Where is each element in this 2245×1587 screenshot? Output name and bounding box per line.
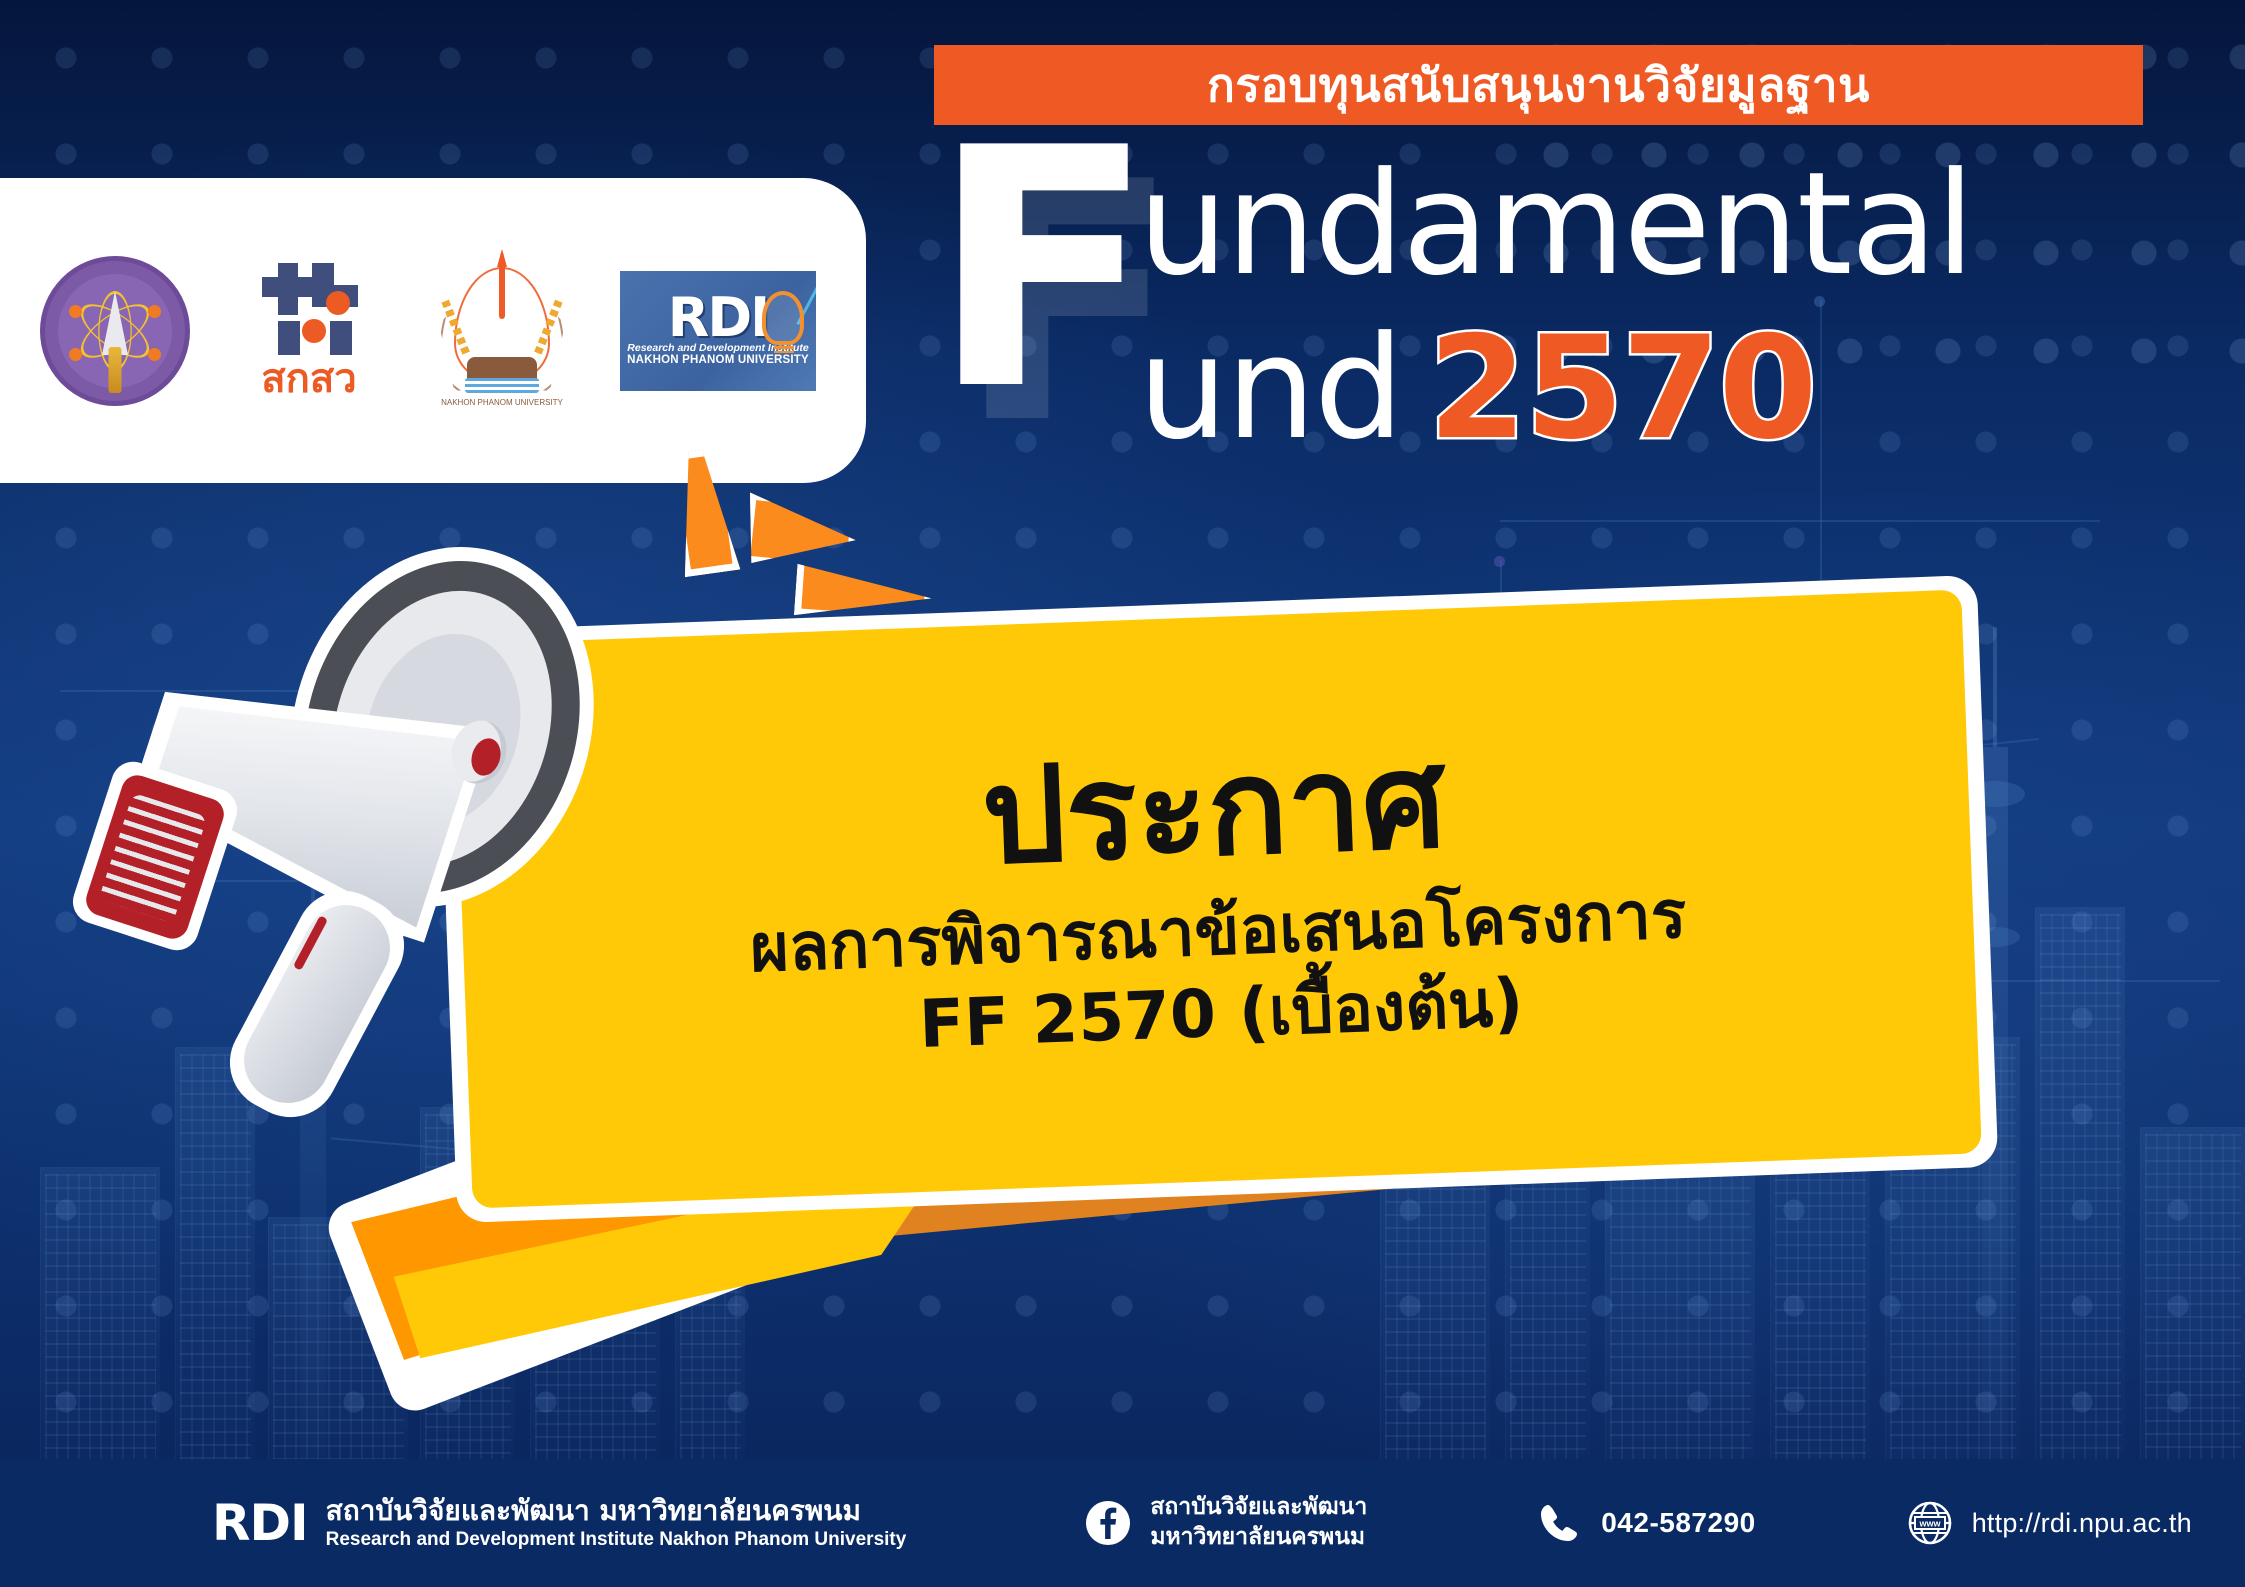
title-line2-row: und 2570: [1138, 318, 1815, 460]
tsri-wordmark: สกสว: [261, 359, 357, 399]
ministry-logo: [40, 256, 190, 406]
poster-title: F F undamental und 2570: [930, 150, 2220, 480]
sksw-logo-icon: [254, 263, 364, 355]
rdi-line2: NAKHON PHANOM UNIVERSITY: [627, 354, 809, 367]
footer-website-url: http://rdi.npu.ac.th: [1972, 1508, 2192, 1539]
logo-panel: สกสว NAKHON PHANOM UNIVERSITY RDI Resear…: [0, 178, 866, 483]
title-year: 2570: [1428, 318, 1815, 460]
tsri-logo: สกสว: [234, 263, 384, 399]
footer-rdi-mark: RDI: [212, 1494, 308, 1552]
rdi-logo-icon: RDI Research and Development Institute N…: [620, 271, 816, 391]
phone-icon[interactable]: [1535, 1499, 1583, 1547]
title-line2: und: [1138, 318, 1402, 460]
footer-facebook-block[interactable]: สถาบันวิจัยและพัฒนา มหาวิทยาลัยนครพนม: [1084, 1493, 1367, 1553]
footer-rdi-english: Research and Development Institute Nakho…: [326, 1528, 907, 1553]
poster-canvas: กรอบทุนสนับสนุนงานวิจัยมูลฐาน: [0, 0, 2245, 1587]
footer-facebook-line2: มหาวิทยาลัยนครพนม: [1150, 1523, 1367, 1553]
svg-text:www: www: [1918, 1519, 1941, 1529]
footer-rdi-thai: สถาบันวิจัยและพัฒนา มหาวิทยาลัยนครพนม: [326, 1493, 907, 1528]
megaphone-icon: [80, 540, 780, 1180]
rdi-mark: RDI: [668, 294, 769, 343]
globe-www-icon[interactable]: www: [1906, 1499, 1954, 1547]
rdi-logo: RDI Research and Development Institute N…: [620, 271, 816, 391]
footer-bar: RDI สถาบันวิจัยและพัฒนา มหาวิทยาลัยนครพน…: [0, 1459, 2245, 1587]
title-line1: undamental: [1138, 154, 1973, 296]
footer-rdi-block: RDI สถาบันวิจัยและพัฒนา มหาวิทยาลัยนครพน…: [212, 1493, 906, 1553]
npu-seal-icon: NAKHON PHANOM UNIVERSITY: [428, 253, 576, 409]
npu-seal-caption: NAKHON PHANOM UNIVERSITY: [428, 398, 576, 407]
footer-facebook-line1: สถาบันวิจัยและพัฒนา: [1150, 1493, 1367, 1523]
footer-phone-number: 042-587290: [1601, 1507, 1755, 1539]
facebook-icon[interactable]: [1084, 1499, 1132, 1547]
footer-website-block[interactable]: www http://rdi.npu.ac.th: [1906, 1499, 2192, 1547]
footer-phone-block[interactable]: 042-587290: [1535, 1499, 1755, 1547]
banner-label: กรอบทุนสนับสนุนงานวิจัยมูลฐาน: [1207, 49, 1870, 122]
npu-logo: NAKHON PHANOM UNIVERSITY: [428, 253, 576, 409]
title-big-letter: F F: [930, 142, 1155, 399]
ministry-seal-icon: [40, 256, 190, 406]
announcement-headline: ประกาศ: [980, 734, 1448, 883]
